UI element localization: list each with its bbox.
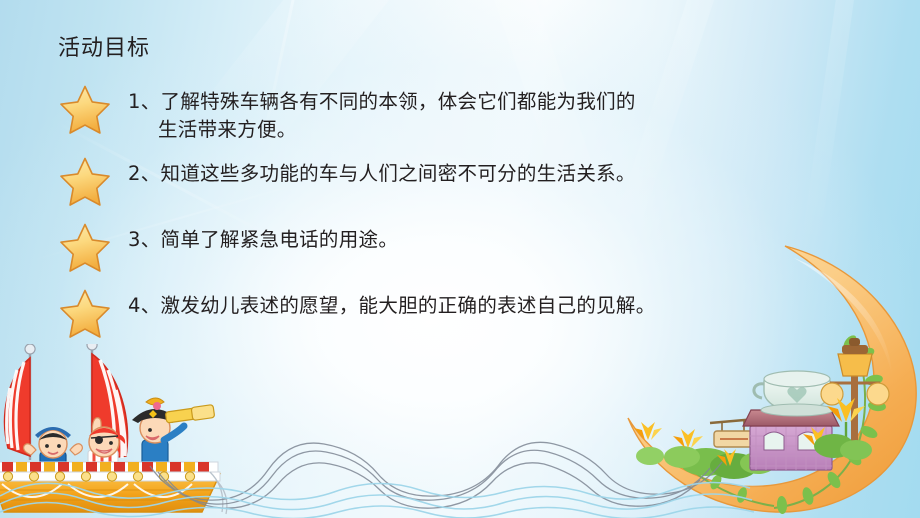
crescent-moon-illustration (598, 214, 920, 518)
list-item-number: 4、 (128, 294, 161, 317)
list-item-line1: 激发幼儿表述的愿望，能大胆的正确的表述自己的见解。 (161, 294, 656, 317)
list-item-number: 3、 (128, 228, 161, 251)
list-item: 2、知道这些多功能的车与人们之间密不可分的生活关系。 (56, 154, 856, 220)
child-sailor (24, 427, 83, 466)
list-item-line1: 简单了解紧急电话的用途。 (161, 228, 399, 251)
list-item-number: 1、 (128, 90, 161, 113)
pirate-ship-illustration (0, 344, 232, 518)
list-item-line1: 知道这些多功能的车与人们之间密不可分的生活关系。 (161, 162, 636, 185)
list-item-number: 2、 (128, 162, 161, 185)
page-title: 活动目标 (58, 36, 150, 62)
spyglass-icon (165, 405, 214, 424)
star-icon (56, 220, 116, 272)
sail-left (5, 344, 35, 456)
deck-rail (0, 462, 218, 472)
star-icon (56, 82, 116, 134)
list-item: 1、了解特殊车辆各有不同的本领，体会它们都能为我们的生活带来方便。 (56, 82, 856, 154)
star-icon (56, 286, 116, 338)
list-item-text: 1、了解特殊车辆各有不同的本领，体会它们都能为我们的生活带来方便。 (116, 82, 856, 144)
list-item-line1: 了解特殊车辆各有不同的本领，体会它们都能为我们的 (161, 90, 636, 113)
star-icon (56, 154, 116, 206)
list-item-line2: 生活带来方便。 (128, 116, 856, 144)
slide-canvas: 活动目标 1、了解特殊车辆各有不同的本领，体会它们都能为我们的生活带来方便。 (0, 0, 920, 518)
ship-hull (0, 472, 220, 512)
list-item-text: 2、知道这些多功能的车与人们之间密不可分的生活关系。 (116, 154, 856, 188)
